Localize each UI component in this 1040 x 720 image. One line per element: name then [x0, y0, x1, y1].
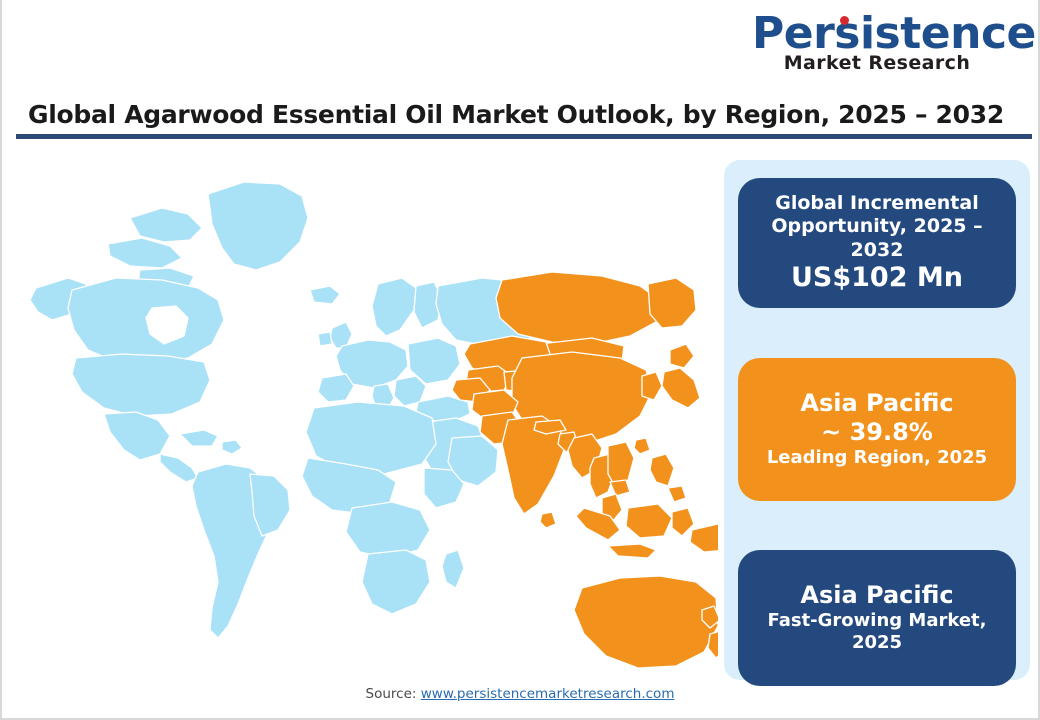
card-growing-region-name: Asia Pacific — [750, 581, 1004, 610]
map-region-scandinavia — [372, 278, 416, 336]
map-region-usa — [72, 354, 210, 416]
map-region-new-zealand-south — [708, 630, 718, 658]
map-region-taiwan — [634, 438, 650, 454]
map-region-iberia — [318, 374, 354, 402]
world-map — [12, 158, 718, 670]
card-opportunity-line2: Opportunity, 2025 – 2032 — [750, 215, 1004, 261]
logo-brand-text: Persistence — [752, 12, 1036, 56]
map-region-iceland — [310, 286, 340, 304]
map-region-central-america — [160, 454, 198, 482]
logo-registered-dot-icon — [840, 16, 849, 25]
map-region-arctic-isl-2 — [108, 238, 182, 268]
map-region-philippines-south — [668, 486, 686, 502]
company-logo: Persistence Market Research — [752, 12, 1002, 80]
map-region-philippines — [650, 454, 674, 486]
logo-brand-label: Persistence — [752, 8, 1036, 59]
map-region-ireland — [318, 332, 332, 346]
map-region-sri-lanka — [540, 512, 556, 528]
map-region-java — [608, 544, 656, 558]
map-region-mexico — [104, 412, 170, 460]
map-region-cambodia — [610, 480, 630, 496]
map-region-russia-east — [496, 272, 662, 344]
map-region-southern-africa — [362, 550, 430, 614]
map-region-caribbean-2 — [222, 440, 242, 454]
card-opportunity-value: US$102 Mn — [750, 262, 1004, 294]
card-growing-caption: Fast-Growing Market, — [750, 610, 1004, 633]
map-region-australia — [574, 576, 718, 668]
map-region-japan-north — [670, 344, 694, 368]
map-region-russia-far-east — [648, 278, 696, 328]
map-region-madagascar — [442, 550, 464, 588]
map-region-canada-arctic — [130, 208, 202, 242]
map-region-caribbean — [180, 430, 218, 446]
source-link[interactable]: www.persistencemarketresearch.com — [421, 686, 675, 702]
card-opportunity-line1: Global Incremental — [750, 192, 1004, 215]
map-region-canada — [68, 278, 224, 364]
infographic-page: Persistence Market Research Global Agarw… — [0, 0, 1040, 720]
source-label: Source: — [366, 686, 417, 702]
stat-card-fast-growing-market[interactable]: Asia Pacific Fast-Growing Market, 2025 — [738, 550, 1016, 686]
map-region-greenland — [208, 182, 308, 270]
card-leading-region-name: Asia Pacific — [750, 389, 1004, 418]
map-region-korea — [642, 372, 662, 400]
card-growing-year: 2025 — [750, 632, 1004, 655]
map-region-borneo — [626, 504, 672, 538]
page-title: Global Agarwood Essential Oil Market Out… — [2, 100, 1038, 129]
stat-card-leading-region[interactable]: Asia Pacific ~ 39.8% Leading Region, 202… — [738, 358, 1016, 501]
page-title-block: Global Agarwood Essential Oil Market Out… — [2, 100, 1038, 139]
stat-card-incremental-opportunity[interactable]: Global Incremental Opportunity, 2025 – 2… — [738, 178, 1016, 308]
card-leading-region-caption: Leading Region, 2025 — [750, 447, 1004, 470]
world-map-svg — [12, 158, 718, 670]
title-divider — [16, 134, 1032, 139]
map-region-sulawesi — [672, 508, 694, 536]
map-region-japan-main — [662, 368, 700, 408]
map-region-central-africa — [346, 502, 430, 558]
map-region-papua-new-guinea — [690, 524, 718, 552]
card-leading-region-share: ~ 39.8% — [750, 418, 1004, 447]
stats-panel: Global Incremental Opportunity, 2025 – 2… — [724, 160, 1030, 680]
source-line: Source: www.persistencemarketresearch.co… — [2, 686, 1038, 702]
